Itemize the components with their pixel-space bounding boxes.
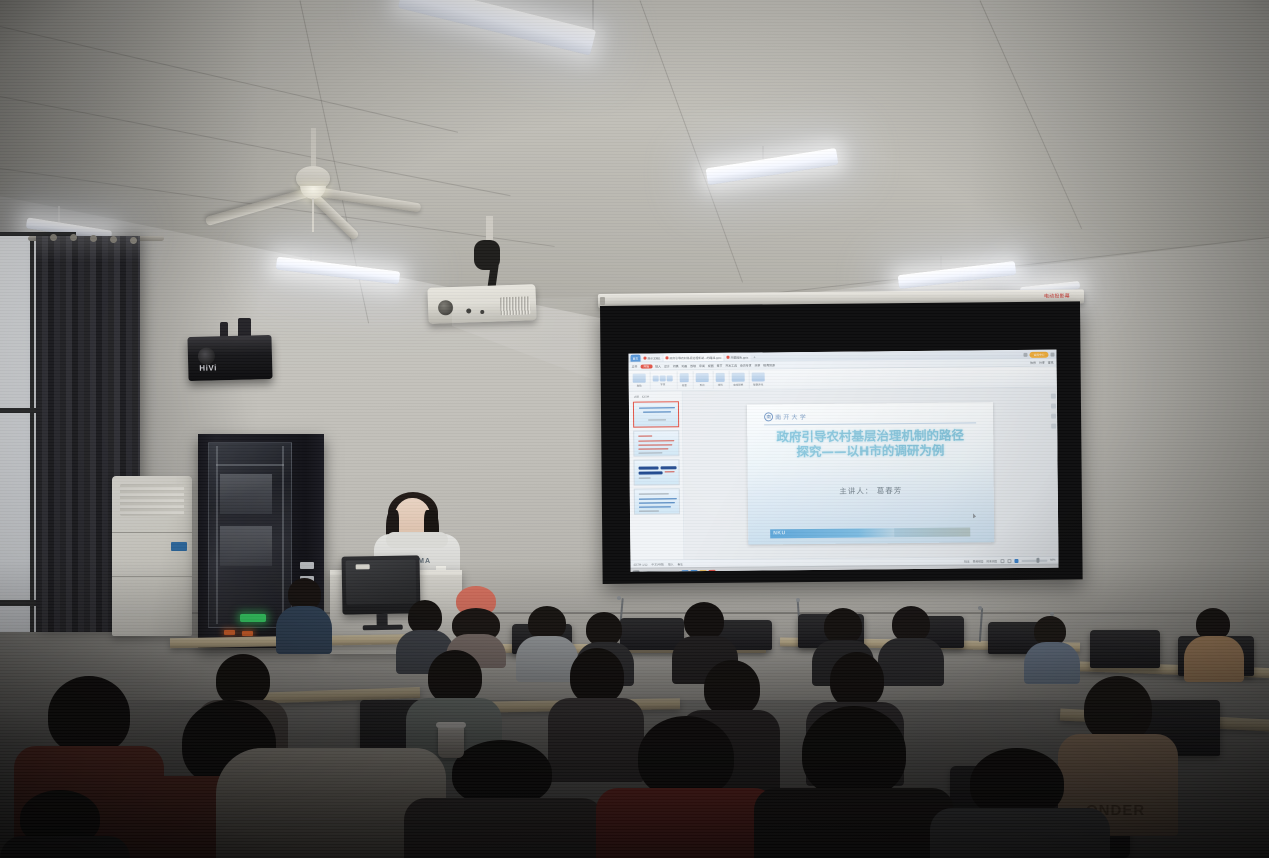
presenter-hood — [386, 532, 448, 548]
rack-equipment-card — [220, 474, 272, 514]
view-sorter-icon[interactable] — [1007, 559, 1011, 563]
menu-item-home[interactable]: 开始 — [640, 364, 652, 368]
file-explorer-icon[interactable] — [700, 569, 707, 571]
pdf-reader-icon[interactable] — [709, 569, 716, 571]
tray-network-icon[interactable] — [1019, 568, 1023, 572]
arrange-icon[interactable] — [716, 373, 725, 382]
ribbon-group-find[interactable]: 查找替换 — [729, 371, 747, 389]
menu-item-share[interactable]: 分享 — [1039, 360, 1045, 364]
current-slide[interactable]: 南 南开大学 政府引导农村基层治理机制的路径 探究——以H市的调研为例 主讲人：… — [747, 402, 994, 544]
align-icon[interactable] — [680, 373, 689, 382]
design-ideas-icon[interactable] — [1051, 394, 1056, 399]
bold-icon[interactable] — [653, 375, 659, 381]
projection-screen: 首页 演示文稿1 政府引导农村基层治理机制...的路径.pptx 开题报告.pp… — [600, 301, 1083, 584]
status-bar-right: 批注 普通视图 阅读视图 56% — [964, 558, 1055, 563]
monitor-sticker — [356, 564, 370, 569]
attendee — [1184, 608, 1244, 672]
slide-thumbnail-2[interactable]: 2 — [633, 430, 679, 456]
classroom-chair — [1090, 630, 1160, 668]
menubar-right: 协作 分享 查找 — [1030, 360, 1053, 364]
menu-item-devtools[interactable]: 开发工具 — [725, 363, 737, 367]
menu-item-section[interactable]: 章节 — [717, 363, 723, 367]
university-seal-icon: 南 — [764, 412, 773, 421]
curtain-ring — [130, 237, 137, 244]
attendee — [0, 790, 130, 858]
projector-knob[interactable] — [480, 310, 484, 314]
drink-cup-lid — [436, 722, 466, 728]
editor-side-rail[interactable] — [1051, 394, 1056, 429]
tray-ime-icon[interactable] — [1031, 568, 1035, 572]
tab-outline[interactable]: 大纲 — [634, 395, 639, 399]
ac-badge — [171, 542, 187, 551]
fan-downrod — [311, 128, 316, 170]
new-tab-button[interactable]: + — [751, 354, 757, 359]
shape-icon[interactable] — [696, 373, 709, 382]
pptx-file-icon — [643, 357, 646, 360]
slide-title-line-2: 探究——以H市的调研为例 — [757, 443, 983, 460]
menu-item-transition[interactable]: 切换 — [673, 364, 679, 368]
attendee — [596, 716, 776, 858]
wall-speaker: HiVi — [187, 335, 272, 381]
rack-power-led — [240, 614, 266, 622]
attendee — [404, 740, 604, 858]
paste-icon[interactable] — [633, 374, 646, 383]
speaker-brand-label: HiVi — [199, 363, 217, 372]
start-button-icon[interactable] — [633, 570, 640, 572]
menu-item-review[interactable]: 审阅 — [699, 363, 705, 367]
attendee — [276, 578, 332, 650]
find-replace-icon[interactable] — [732, 373, 745, 382]
slide-logo: 南 南开大学 — [764, 412, 808, 421]
rack-status-led — [242, 631, 253, 636]
ceiling-projector — [427, 284, 536, 324]
close-icon[interactable] — [1050, 352, 1054, 356]
screen-housing-label: 电动投影幕 — [1044, 292, 1070, 299]
minimize-icon[interactable] — [1024, 352, 1028, 356]
browser-icon[interactable] — [691, 570, 698, 572]
menu-item-insert[interactable]: 插入 — [655, 364, 661, 368]
ribbon-group-beautify[interactable]: 智能美化 — [749, 370, 767, 388]
taskbar-search-input[interactable]: 在这里输入你要搜索的内容 — [642, 570, 680, 572]
tray-time[interactable]: 14:23 — [1037, 568, 1043, 571]
tab-slides[interactable]: 幻灯片 — [642, 395, 650, 399]
status-reading-view[interactable]: 阅读视图 — [986, 559, 997, 563]
smart-beautify-icon[interactable] — [752, 372, 765, 381]
zoom-slider-handle[interactable] — [1036, 558, 1039, 563]
microphone-head — [978, 606, 982, 610]
attendee — [754, 706, 954, 858]
lecture-hall-photo: HiVi 电动投影幕 — [0, 0, 1269, 858]
attendee — [930, 748, 1110, 858]
view-slideshow-icon[interactable] — [1014, 558, 1018, 562]
ribbon-group-paragraph[interactable]: 段落 — [677, 371, 691, 389]
tray-volume-icon[interactable] — [1025, 568, 1029, 572]
ribbon-group-shape[interactable]: 形状 — [693, 371, 711, 389]
slide-editor-canvas[interactable]: 南 南开大学 政府引导农村基层治理机制的路径 探究——以H市的调研为例 主讲人：… — [683, 388, 1059, 560]
slide-thumbnail-1[interactable]: 1 — [632, 401, 678, 427]
view-normal-icon[interactable] — [1000, 559, 1004, 563]
wps-office-icon[interactable] — [682, 570, 689, 572]
wps-tabbar-right: 会员中心 — [1024, 351, 1055, 357]
blue-shirt-attendee — [1024, 616, 1080, 676]
animation-pane-icon[interactable] — [1051, 414, 1056, 419]
pptx-file-icon — [665, 356, 668, 359]
selection-pane-icon[interactable] — [1051, 424, 1056, 429]
curtain-ring — [90, 235, 97, 242]
comment-icon[interactable] — [1051, 404, 1056, 409]
wps-document-tab[interactable]: 演示文稿1 — [641, 354, 662, 361]
slide-presenter-line: 主讲人： 葛春芳 — [758, 484, 984, 497]
curtain-ring — [50, 234, 57, 241]
tray-date[interactable]: 2023/3/16 — [1045, 568, 1056, 571]
projector-vent — [500, 296, 531, 315]
system-tray: 14:23 2023/3/16 — [1019, 568, 1056, 572]
pptx-file-icon — [726, 356, 729, 359]
speaker-driver-icon — [198, 347, 215, 364]
underline-icon[interactable] — [667, 375, 673, 381]
membership-button[interactable]: 会员中心 — [1030, 351, 1049, 357]
rack-status-led — [224, 630, 235, 635]
curtain-ring — [110, 236, 117, 243]
projector-lens-icon — [438, 300, 454, 316]
status-insert-mode[interactable]: 插入 — [668, 562, 673, 566]
ac-vent — [120, 484, 184, 516]
slide-thumbnail-3[interactable]: 3 — [633, 459, 679, 485]
slide-thumbnail-4[interactable]: 4 — [633, 488, 679, 514]
menu-item-efficiency[interactable]: 效率 — [754, 363, 760, 367]
zoom-slider[interactable] — [1021, 559, 1047, 561]
slide-footer-word: NKU — [773, 530, 786, 536]
projection-surface: 首页 演示文稿1 政府引导农村基层治理机制...的路径.pptx 开题报告.pp… — [628, 350, 1058, 572]
wps-office-window: 首页 演示文稿1 政府引导农村基层治理机制...的路径.pptx 开题报告.pp… — [628, 350, 1058, 572]
wps-document-tab-active[interactable]: 政府引导农村基层治理机制...的路径.pptx — [663, 354, 723, 362]
italic-icon[interactable] — [660, 375, 666, 381]
slide-divider — [764, 422, 976, 425]
status-slide-index: 幻灯片 1/12 — [633, 562, 647, 566]
projector-knob[interactable] — [466, 308, 471, 313]
drink-cup — [438, 726, 464, 758]
wps-home-tab[interactable]: 首页 — [630, 355, 640, 362]
microphone-head — [617, 596, 621, 600]
microphone-head — [796, 598, 800, 602]
air-conditioner-unit[interactable] — [112, 476, 192, 636]
menu-item-member[interactable]: 会员专享 — [740, 363, 752, 367]
wps-document-tab[interactable]: 开题报告.pptx — [724, 354, 750, 361]
menu-item-file[interactable]: 文件 — [632, 364, 638, 368]
menu-item-slideshow[interactable]: 放映 — [690, 364, 696, 368]
ribbon-group-font[interactable]: 字体 — [650, 371, 675, 389]
ribbon-group-paste[interactable]: 粘贴 — [631, 372, 648, 390]
menu-item-view[interactable]: 视图 — [708, 363, 714, 367]
slide-title[interactable]: 政府引导农村基层治理机制的路径 探究——以H市的调研为例 — [757, 428, 983, 460]
menu-item-design[interactable]: 设计 — [664, 364, 670, 368]
menu-item-find[interactable]: 查找 — [1048, 360, 1054, 364]
font-row — [653, 375, 673, 381]
status-normal-view[interactable]: 普通视图 — [973, 559, 984, 563]
curtain-ring — [70, 234, 77, 241]
rack-label — [300, 562, 314, 569]
zoom-level: 56% — [1050, 559, 1055, 562]
wps-workspace: 大纲 幻灯片 1 2 — [629, 388, 1059, 560]
university-name: 南开大学 — [775, 412, 808, 421]
fan-pull-chain[interactable] — [312, 198, 314, 232]
mouse-cursor-icon — [973, 513, 976, 518]
status-language[interactable]: 中文(中国) — [652, 562, 665, 566]
ribbon-group-arrange[interactable]: 排列 — [713, 371, 727, 389]
status-comments[interactable]: 批注 — [964, 559, 969, 563]
status-notes[interactable]: 备注 — [677, 562, 682, 566]
rack-equipment-card — [220, 526, 272, 566]
slide-thumbnail-panel[interactable]: 大纲 幻灯片 1 2 — [629, 391, 685, 560]
menu-item-collaborate[interactable]: 协作 — [1030, 360, 1036, 364]
menu-item-animation[interactable]: 动画 — [681, 364, 687, 368]
thumbnail-panel-tabs: 大纲 幻灯片 — [631, 395, 650, 399]
campus-photo — [894, 527, 970, 537]
menu-item-docer[interactable]: 稻壳资源 — [763, 363, 775, 367]
slide-footer-strip: NKU — [770, 527, 970, 538]
